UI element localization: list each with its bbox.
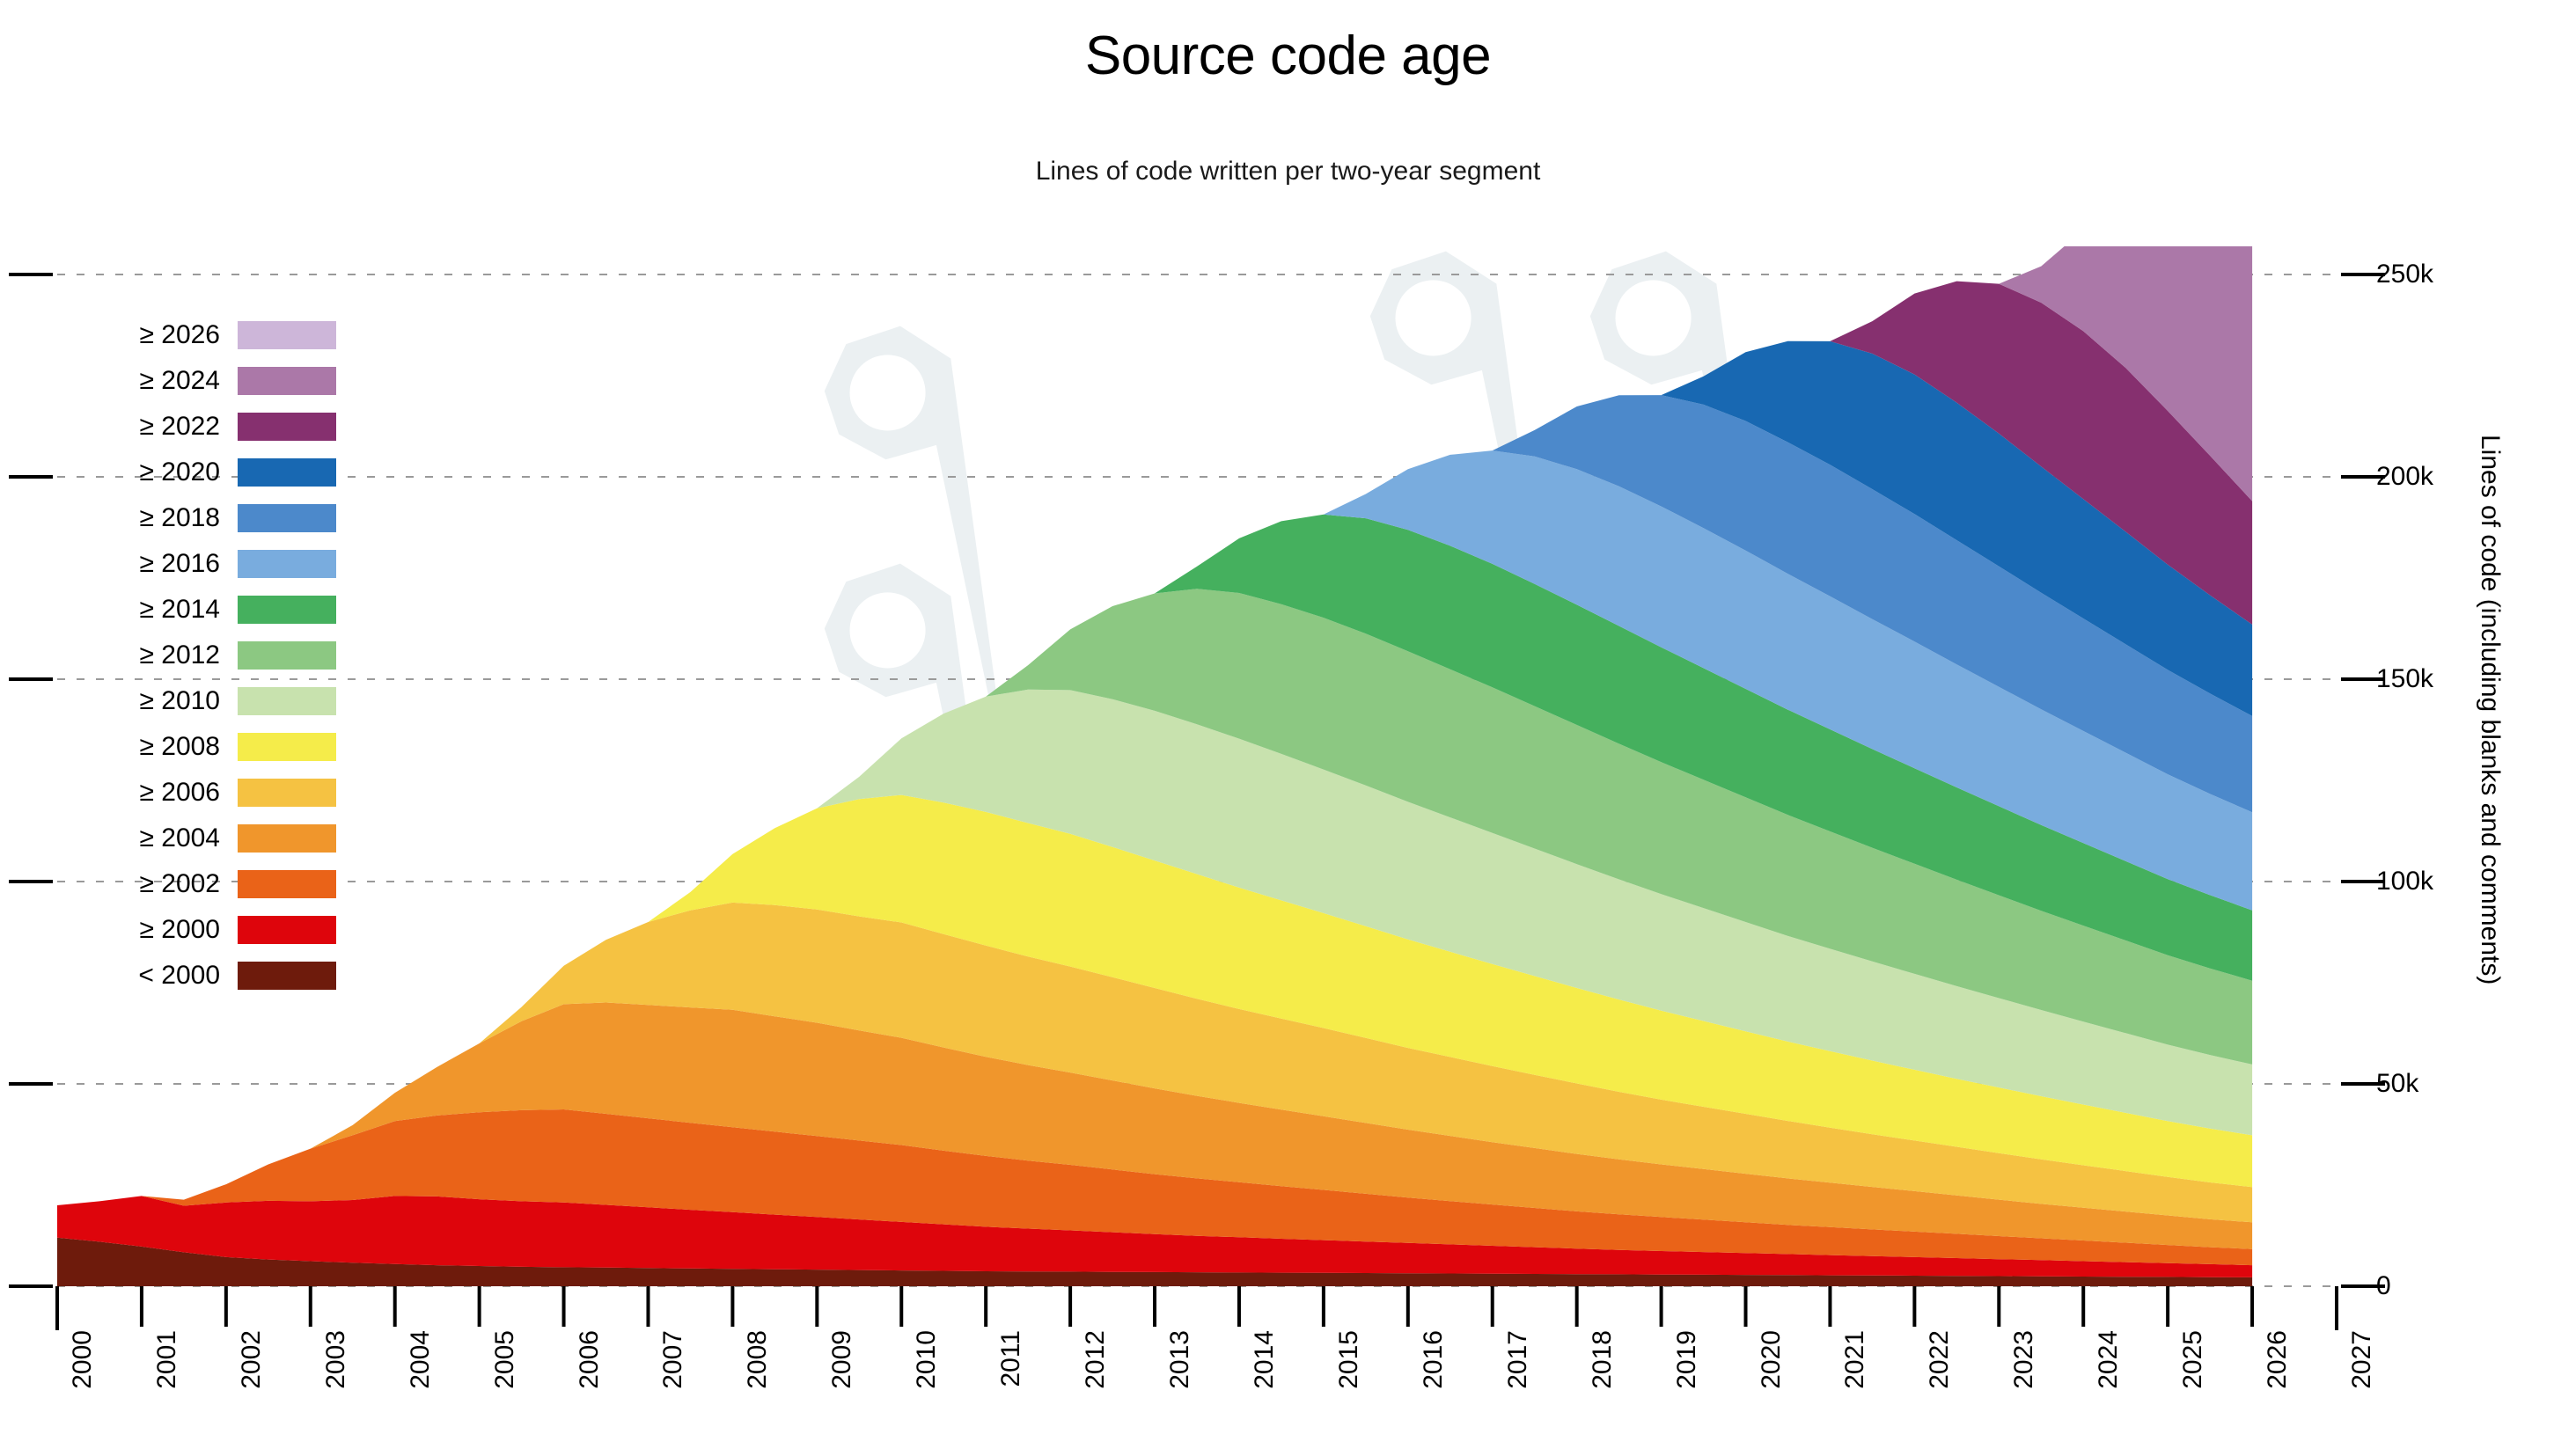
- legend-item-label: ≥ 2004: [123, 823, 238, 853]
- x-axis-tick-label: 2000: [68, 1330, 98, 1389]
- x-axis-tick-label: 2008: [743, 1330, 773, 1389]
- x-axis-tick-label: 2004: [406, 1330, 436, 1389]
- legend-color-swatch: [238, 413, 336, 441]
- legend-color-swatch: [238, 733, 336, 761]
- x-axis-tick-label: 2024: [2094, 1330, 2124, 1389]
- stacked-area-plot: [0, 0, 2576, 1449]
- legend-item[interactable]: ≥ 2020: [123, 450, 336, 495]
- legend-item[interactable]: ≥ 2000: [123, 907, 336, 953]
- legend-color-swatch: [238, 916, 336, 944]
- area-series-group: [57, 196, 2252, 1286]
- x-axis-tick-label: 2027: [2347, 1330, 2377, 1389]
- y-axis-tick-label: 200k: [2376, 462, 2433, 492]
- y-axis-tick-label: 50k: [2376, 1069, 2418, 1099]
- x-axis-tick-label: 2003: [321, 1330, 351, 1389]
- x-axis-tick-label: 2007: [658, 1330, 688, 1389]
- legend-item[interactable]: ≥ 2012: [123, 633, 336, 678]
- legend-item-label: ≥ 2000: [123, 915, 238, 945]
- x-axis-tick-label: 2017: [1503, 1330, 1533, 1389]
- x-axis-tick-label: 2002: [237, 1330, 267, 1389]
- legend-color-swatch: [238, 779, 336, 807]
- legend-item[interactable]: ≥ 2002: [123, 861, 336, 907]
- x-axis-tick-label: 2010: [912, 1330, 942, 1389]
- legend-color-swatch: [238, 687, 336, 715]
- legend-item-label: ≥ 2026: [123, 320, 238, 350]
- legend-color-swatch: [238, 321, 336, 349]
- legend-item-label: ≥ 2002: [123, 869, 238, 899]
- x-axis-tick-label: 2016: [1419, 1330, 1449, 1389]
- x-axis-tick-label: 2019: [1672, 1330, 1702, 1389]
- legend-item[interactable]: ≥ 2010: [123, 678, 336, 724]
- legend-item-label: ≥ 2014: [123, 595, 238, 625]
- legend-item-label: ≥ 2020: [123, 457, 238, 487]
- legend-color-swatch: [238, 458, 336, 487]
- chart-page: Source code age Lines of code written pe…: [0, 0, 2576, 1449]
- legend-item[interactable]: ≥ 2026: [123, 312, 336, 358]
- x-axis-tick-label: 2026: [2263, 1330, 2293, 1389]
- y-axis-title: Lines of code (including blanks and comm…: [2475, 435, 2505, 980]
- legend-item[interactable]: ≥ 2016: [123, 541, 336, 587]
- legend-color-swatch: [238, 962, 336, 990]
- x-axis-tick-label: 2025: [2178, 1330, 2208, 1389]
- legend-item[interactable]: ≥ 2018: [123, 495, 336, 541]
- legend-item[interactable]: ≥ 2008: [123, 724, 336, 770]
- legend-item-label: ≥ 2010: [123, 686, 238, 716]
- legend-color-swatch: [238, 641, 336, 670]
- y-axis-tick-label: 150k: [2376, 664, 2433, 694]
- y-axis-tick-label: 100k: [2376, 867, 2433, 896]
- legend-item[interactable]: < 2000: [123, 953, 336, 999]
- x-axis-tick-label: 2014: [1250, 1330, 1280, 1389]
- x-axis-tick-label: 2018: [1588, 1330, 1618, 1389]
- legend-item[interactable]: ≥ 2004: [123, 816, 336, 861]
- x-axis-ticks: [57, 1286, 2337, 1327]
- legend-color-swatch: [238, 504, 336, 532]
- legend-color-swatch: [238, 596, 336, 624]
- legend-item-label: ≥ 2018: [123, 503, 238, 533]
- legend-item-label: ≥ 2006: [123, 778, 238, 808]
- legend-color-swatch: [238, 550, 336, 578]
- x-axis-tick-label: 2022: [1925, 1330, 1955, 1389]
- legend-color-swatch: [238, 824, 336, 853]
- legend: ≥ 2026≥ 2024≥ 2022≥ 2020≥ 2018≥ 2016≥ 20…: [123, 312, 336, 999]
- y-axis-tick-label: 250k: [2376, 260, 2433, 289]
- legend-item-label: ≥ 2022: [123, 412, 238, 442]
- legend-item[interactable]: ≥ 2022: [123, 404, 336, 450]
- x-axis-tick-label: 2015: [1334, 1330, 1364, 1389]
- x-axis-tick-label: 2020: [1757, 1330, 1787, 1389]
- x-axis-tick-label: 2005: [490, 1330, 520, 1389]
- x-axis-tick-label: 2012: [1081, 1330, 1111, 1389]
- x-axis-tick-label: 2011: [996, 1330, 1026, 1387]
- x-axis-tick-label: 2006: [575, 1330, 605, 1389]
- legend-color-swatch: [238, 870, 336, 898]
- legend-item[interactable]: ≥ 2006: [123, 770, 336, 816]
- x-axis-tick-label: 2013: [1165, 1330, 1195, 1389]
- legend-item-label: ≥ 2008: [123, 732, 238, 762]
- x-axis-tick-label: 2023: [2009, 1330, 2039, 1389]
- legend-item-label: ≥ 2012: [123, 640, 238, 670]
- legend-item-label: ≥ 2016: [123, 549, 238, 579]
- legend-item[interactable]: ≥ 2024: [123, 358, 336, 404]
- legend-item[interactable]: ≥ 2014: [123, 587, 336, 633]
- legend-color-swatch: [238, 367, 336, 395]
- legend-item-label: ≥ 2024: [123, 366, 238, 396]
- x-axis-tick-label: 2021: [1840, 1330, 1870, 1389]
- x-axis-tick-label: 2001: [152, 1330, 182, 1389]
- legend-item-label: < 2000: [123, 961, 238, 991]
- x-axis-tick-label: 2009: [827, 1330, 857, 1389]
- y-axis-tick-label: 0: [2376, 1271, 2391, 1301]
